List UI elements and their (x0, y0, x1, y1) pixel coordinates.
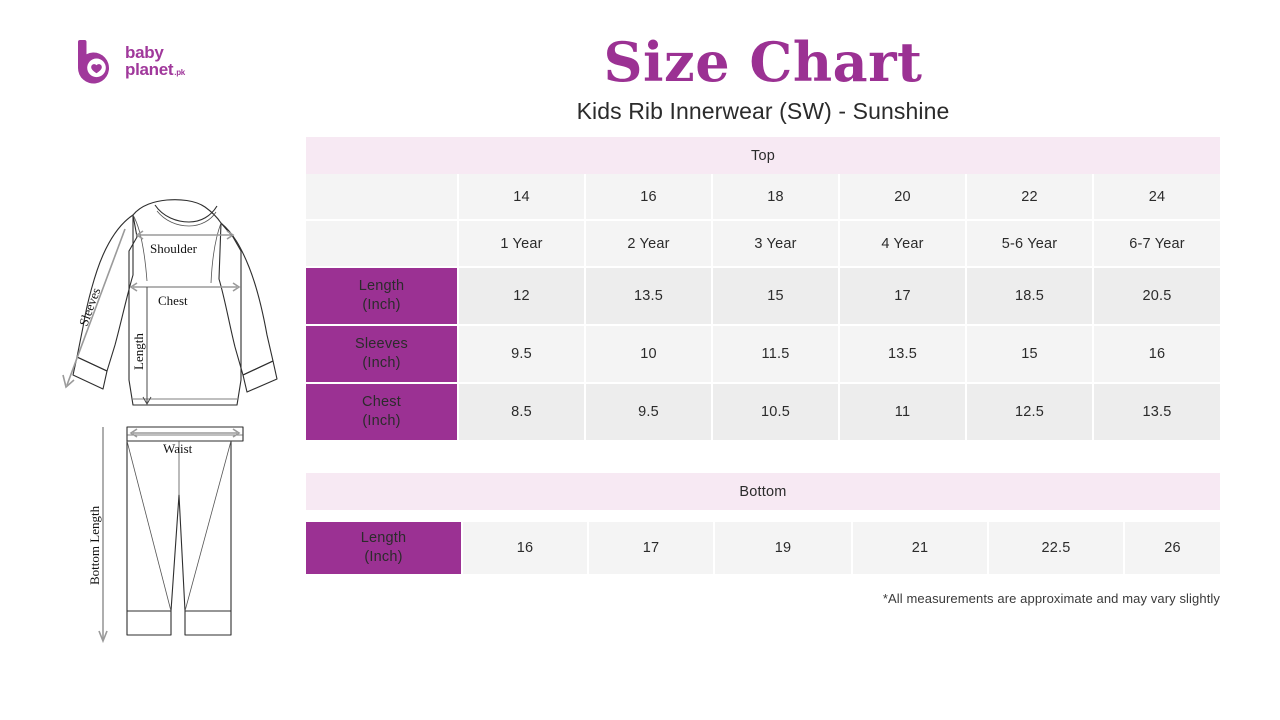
table-row: Length (Inch) 16 17 19 21 22.5 26 (306, 522, 1220, 576)
brand-name-line2: planet (125, 61, 173, 78)
value-cell: 13.5 (586, 268, 713, 326)
value-cell: 16 (1094, 326, 1220, 384)
value-cell: 15 (713, 268, 840, 326)
size-row-blank-cell (306, 174, 459, 221)
age-cell: 1 Year (459, 221, 586, 268)
value-cell: 11.5 (713, 326, 840, 384)
value-cell: 11 (840, 384, 967, 442)
value-cell: 15 (967, 326, 1094, 384)
size-cell: 20 (840, 174, 967, 221)
row-label-text: Length (306, 529, 461, 548)
pants-illustration (127, 427, 243, 635)
row-unit-text: (Inch) (306, 296, 457, 315)
value-cell: 21 (853, 522, 989, 576)
value-cell: 12.5 (967, 384, 1094, 442)
age-cell: 3 Year (713, 221, 840, 268)
brand-wordmark: baby planet .pk (125, 44, 185, 79)
label-bottom-length: Bottom Length (87, 505, 102, 585)
row-label-text: Sleeves (306, 335, 457, 354)
row-label-length: Length (Inch) (306, 268, 459, 326)
value-cell: 12 (459, 268, 586, 326)
size-chart-page: baby planet .pk Size Chart Kids Rib Inne… (0, 0, 1280, 720)
top-size-table: Top 14 16 18 20 22 24 1 Year 2 Year 3 Ye… (306, 137, 1220, 442)
garment-measurement-diagram: Shoulder Chest Length Sleeves (55, 195, 305, 665)
value-cell: 9.5 (586, 384, 713, 442)
value-cell: 16 (463, 522, 589, 576)
value-cell: 9.5 (459, 326, 586, 384)
row-label-chest: Chest (Inch) (306, 384, 459, 442)
value-cell: 26 (1125, 522, 1220, 576)
bottom-size-table: Bottom Length (Inch) 16 17 19 21 22.5 26 (306, 473, 1220, 576)
value-cell: 19 (715, 522, 853, 576)
label-waist: Waist (163, 441, 193, 456)
value-cell: 13.5 (1094, 384, 1220, 442)
value-cell: 10.5 (713, 384, 840, 442)
row-unit-text: (Inch) (306, 548, 461, 567)
bottom-banner-row: Bottom (306, 473, 1220, 510)
page-subtitle: Kids Rib Innerwear (SW) - Sunshine (306, 96, 1220, 126)
table-row: Sleeves (Inch) 9.5 10 11.5 13.5 15 16 (306, 326, 1220, 384)
top-age-row: 1 Year 2 Year 3 Year 4 Year 5-6 Year 6-7… (306, 221, 1220, 268)
row-label-text: Chest (306, 393, 457, 412)
table-row: Chest (Inch) 8.5 9.5 10.5 11 12.5 13.5 (306, 384, 1220, 442)
size-cell: 18 (713, 174, 840, 221)
age-cell: 5-6 Year (967, 221, 1094, 268)
spacer-cell (306, 510, 1220, 522)
baby-planet-b-heart-logo-icon (72, 38, 116, 84)
brand-suffix: .pk (174, 69, 185, 77)
value-cell: 8.5 (459, 384, 586, 442)
table-row: Length (Inch) 12 13.5 15 17 18.5 20.5 (306, 268, 1220, 326)
value-cell: 20.5 (1094, 268, 1220, 326)
size-cell: 16 (586, 174, 713, 221)
top-banner-row: Top (306, 137, 1220, 174)
age-cell: 6-7 Year (1094, 221, 1220, 268)
label-chest: Chest (158, 293, 188, 308)
age-cell: 2 Year (586, 221, 713, 268)
size-cell: 24 (1094, 174, 1220, 221)
age-row-blank-cell (306, 221, 459, 268)
table-spacer-row (306, 510, 1220, 522)
shoulder-measure-arrow (137, 231, 233, 239)
row-label-bottom-length: Length (Inch) (306, 522, 463, 576)
top-banner-label: Top (306, 137, 1220, 174)
page-title: Size Chart (306, 32, 1220, 92)
size-cell: 14 (459, 174, 586, 221)
value-cell: 17 (840, 268, 967, 326)
measurements-disclaimer: *All measurements are approximate and ma… (306, 591, 1220, 606)
row-unit-text: (Inch) (306, 412, 457, 431)
value-cell: 22.5 (989, 522, 1125, 576)
garment-diagram-svg: Shoulder Chest Length Sleeves (55, 195, 305, 665)
size-cell: 22 (967, 174, 1094, 221)
label-shoulder: Shoulder (150, 241, 198, 256)
row-label-text: Length (306, 277, 457, 296)
brand-logo: baby planet .pk (72, 38, 185, 84)
value-cell: 18.5 (967, 268, 1094, 326)
value-cell: 10 (586, 326, 713, 384)
age-cell: 4 Year (840, 221, 967, 268)
row-label-sleeves: Sleeves (Inch) (306, 326, 459, 384)
label-length: Length (131, 333, 146, 370)
waist-measure-arrow (131, 429, 239, 437)
value-cell: 13.5 (840, 326, 967, 384)
bottom-banner-label: Bottom (306, 473, 1220, 510)
row-unit-text: (Inch) (306, 354, 457, 373)
value-cell: 17 (589, 522, 715, 576)
brand-name-line1: baby (125, 44, 163, 61)
label-sleeves: Sleeves (76, 286, 104, 328)
top-size-row: 14 16 18 20 22 24 (306, 174, 1220, 221)
